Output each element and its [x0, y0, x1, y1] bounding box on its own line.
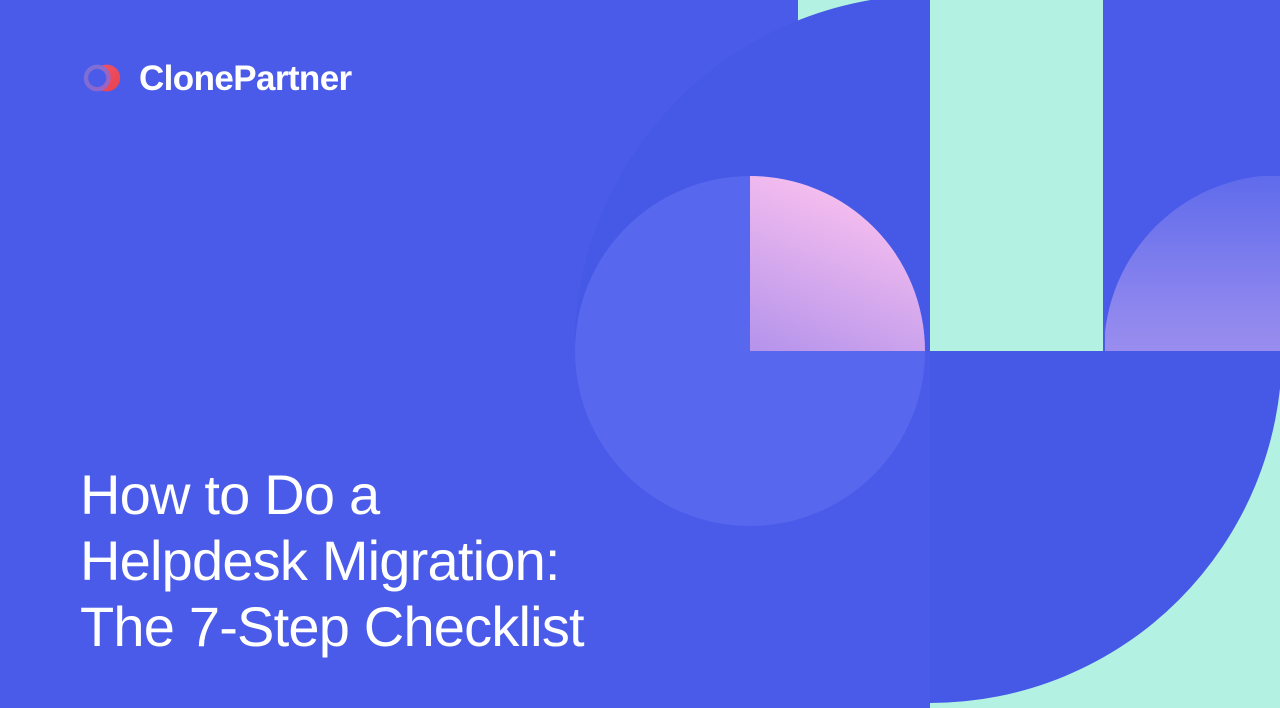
brand-logo[interactable]: ClonePartner — [80, 56, 352, 100]
mint-rectangle-top — [798, 0, 1103, 351]
large-quarter-circle-bottom — [578, 0, 1280, 703]
page-title-line-1: How to Do a — [80, 462, 584, 528]
page-title: How to Do a Helpdesk Migration: The 7-St… — [80, 462, 584, 660]
center-circle — [575, 176, 925, 526]
right-half-circle — [1104, 175, 1280, 527]
two-overlapping-circles-icon — [80, 56, 124, 100]
hero-banner: ClonePartner How to Do a Helpdesk Migrat… — [0, 0, 1280, 708]
page-title-line-2: Helpdesk Migration: — [80, 528, 584, 594]
center-circle-accent-quadrant — [575, 176, 925, 526]
brand-name: ClonePartner — [139, 61, 352, 96]
page-title-line-3: The 7-Step Checklist — [80, 594, 584, 660]
mint-rectangle-bottom — [930, 351, 1280, 708]
large-quarter-circle-top — [574, 0, 1280, 707]
